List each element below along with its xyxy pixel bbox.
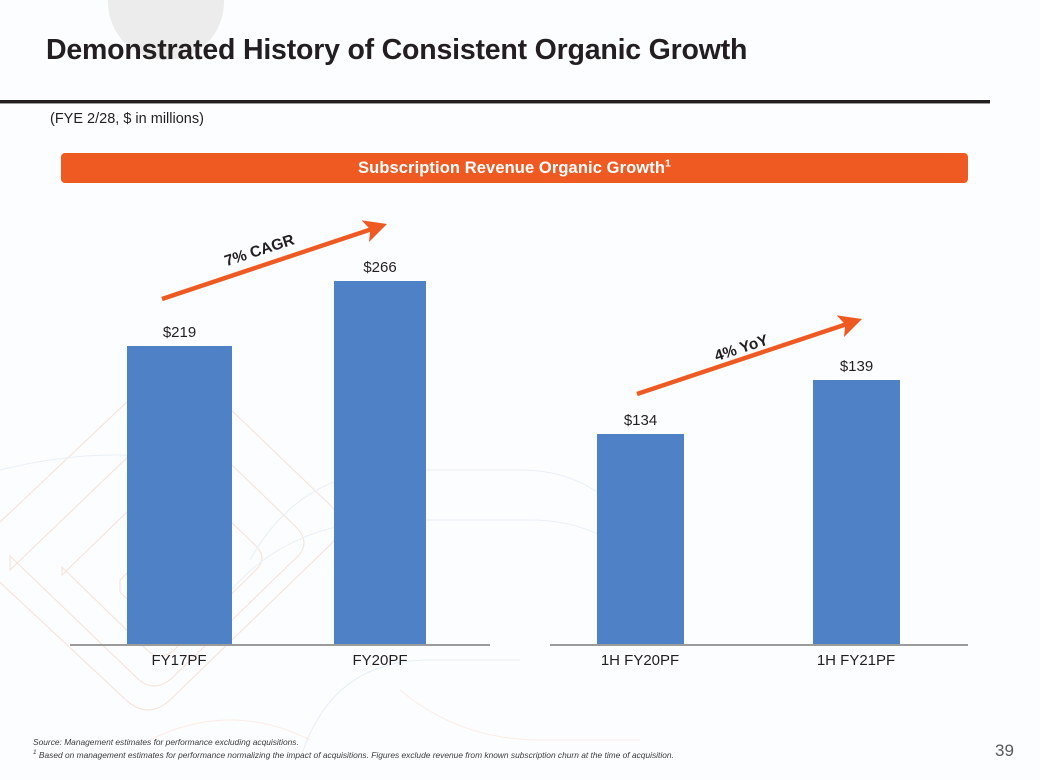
bar-1h-fy21pf	[813, 380, 900, 645]
footnote-note: 1 Based on management estimates for perf…	[33, 749, 674, 762]
left-chart-axis	[70, 644, 490, 646]
bar-fy17pf	[127, 346, 232, 645]
right-chart-axis	[550, 644, 968, 646]
footnote-note-text: Based on management estimates for perfor…	[37, 750, 674, 760]
bar-value-label-1h-fy20pf: $134	[597, 412, 684, 429]
left-chart: 7% CAGR $219 $266 FY17PF FY20PF	[0, 0, 520, 700]
footnotes: Source: Management estimates for perform…	[33, 736, 674, 761]
right-chart: 4% YoY $134 $139 1H FY20PF 1H FY21PF	[520, 0, 1040, 700]
category-label-1h-fy21pf: 1H FY21PF	[786, 652, 926, 669]
left-chart-annotation: 7% CAGR	[222, 232, 296, 271]
bar-value-label-fy20pf: $266	[334, 259, 426, 276]
page-number: 39	[995, 741, 1014, 761]
category-label-fy17pf: FY17PF	[109, 652, 249, 669]
slide-canvas: Demonstrated History of Consistent Organ…	[0, 0, 1040, 780]
category-label-fy20pf: FY20PF	[310, 652, 450, 669]
category-label-1h-fy20pf: 1H FY20PF	[570, 652, 710, 669]
bar-1h-fy20pf	[597, 434, 684, 645]
footnote-source: Source: Management estimates for perform…	[33, 736, 674, 749]
bar-value-label-1h-fy21pf: $139	[813, 358, 900, 375]
bar-fy20pf	[334, 281, 426, 645]
right-chart-annotation: 4% YoY	[712, 332, 770, 366]
bar-value-label-fy17pf: $219	[127, 324, 232, 341]
